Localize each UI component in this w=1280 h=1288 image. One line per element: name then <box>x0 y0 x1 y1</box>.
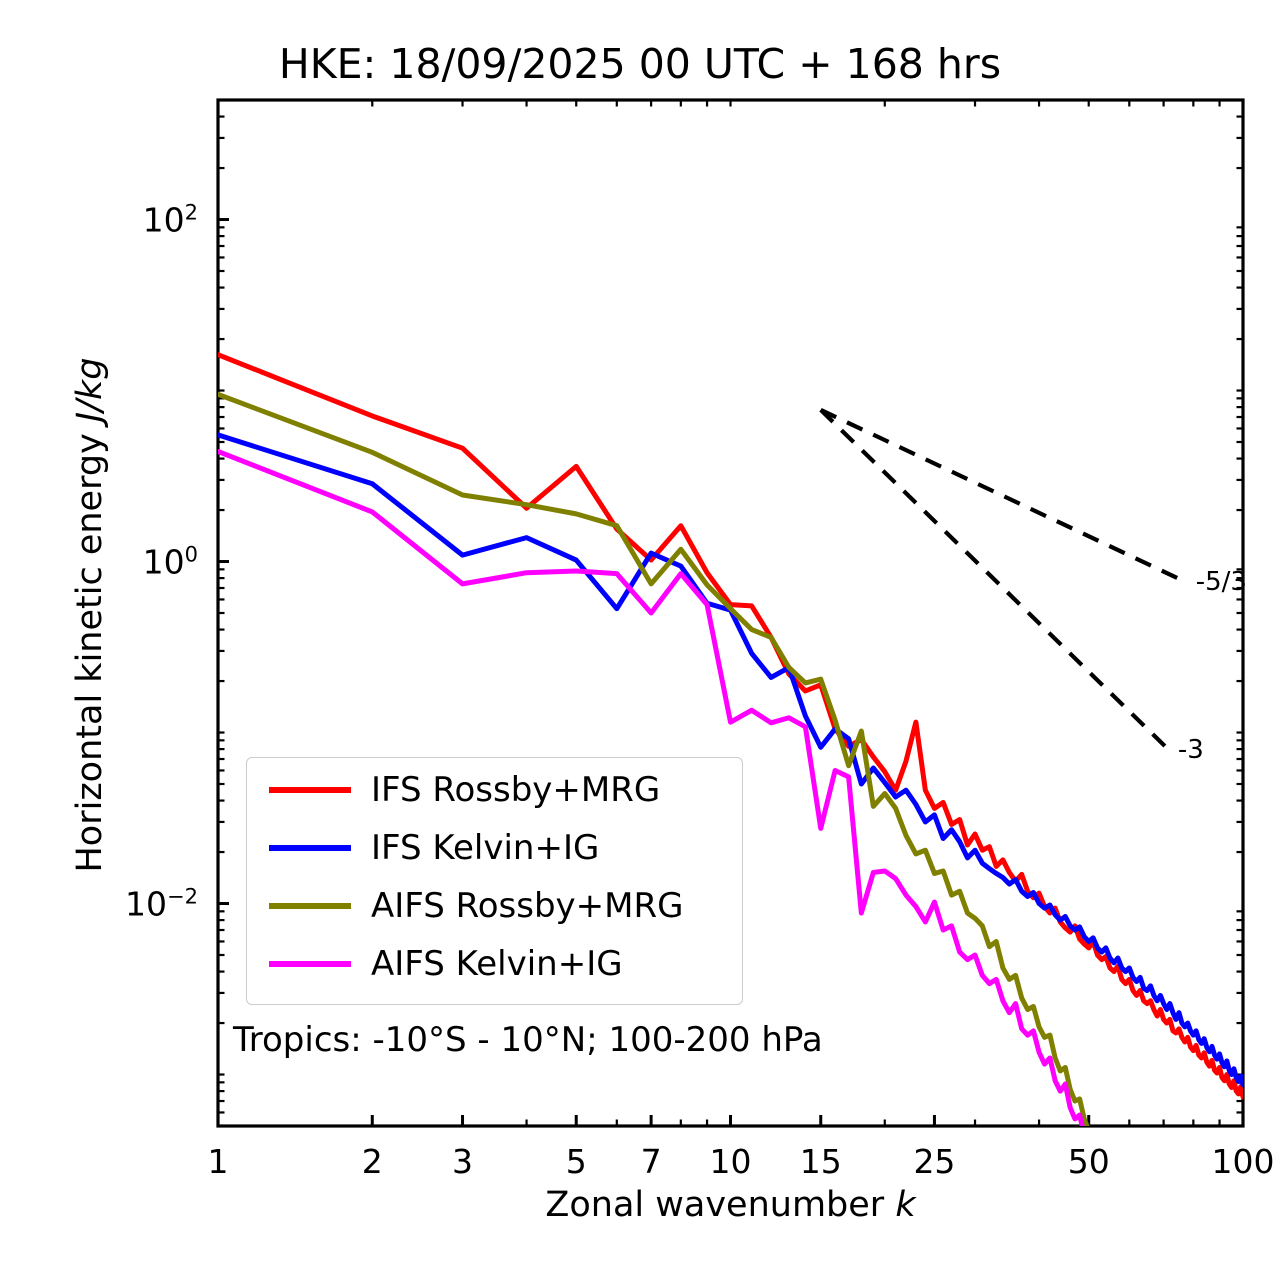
x-tick-label-9: 100 <box>1212 1142 1275 1181</box>
reference-slope-lines <box>821 410 1188 751</box>
legend-swatch-0 <box>269 787 351 793</box>
reference-line-1 <box>821 410 1170 751</box>
x-tick-label-6: 15 <box>800 1142 842 1181</box>
legend-label-0: IFS Rossby+MRG <box>371 770 660 810</box>
reference-line-0 <box>821 410 1188 583</box>
y-tick-label-1: 100 <box>0 542 198 581</box>
legend-swatch-3 <box>269 961 351 967</box>
legend-item-2[interactable]: AIFS Rossby+MRG <box>247 878 742 934</box>
x-tick-label-1: 2 <box>362 1142 383 1181</box>
figure-root: HKE: 18/09/2025 00 UTC + 168 hrs Horizon… <box>0 0 1280 1288</box>
slope-label--3: -3 <box>1178 735 1204 765</box>
x-tick-label-8: 50 <box>1068 1142 1110 1181</box>
slope-label--5-3: -5/3 <box>1196 567 1247 597</box>
plot-canvas <box>0 0 1280 1288</box>
legend-label-1: IFS Kelvin+IG <box>371 828 599 868</box>
legend-label-2: AIFS Rossby+MRG <box>371 886 683 926</box>
x-tick-label-3: 5 <box>566 1142 587 1181</box>
legend-item-1[interactable]: IFS Kelvin+IG <box>247 820 742 876</box>
legend-item-0[interactable]: IFS Rossby+MRG <box>247 762 742 818</box>
x-tick-label-4: 7 <box>641 1142 662 1181</box>
legend-swatch-1 <box>269 845 351 851</box>
y-tick-label-0: 102 <box>0 200 198 239</box>
x-tick-label-7: 25 <box>913 1142 955 1181</box>
legend: IFS Rossby+MRG IFS Kelvin+IG AIFS Rossby… <box>246 757 743 1005</box>
legend-label-3: AIFS Kelvin+IG <box>371 944 623 984</box>
x-tick-label-5: 10 <box>710 1142 752 1181</box>
x-tick-label-0: 1 <box>208 1142 229 1181</box>
x-tick-label-2: 3 <box>452 1142 473 1181</box>
y-tick-label-2: 10−2 <box>0 884 198 923</box>
legend-item-3[interactable]: AIFS Kelvin+IG <box>247 936 742 992</box>
region-annotation: Tropics: -10°S - 10°N; 100-200 hPa <box>233 1020 823 1060</box>
legend-swatch-2 <box>269 903 351 909</box>
